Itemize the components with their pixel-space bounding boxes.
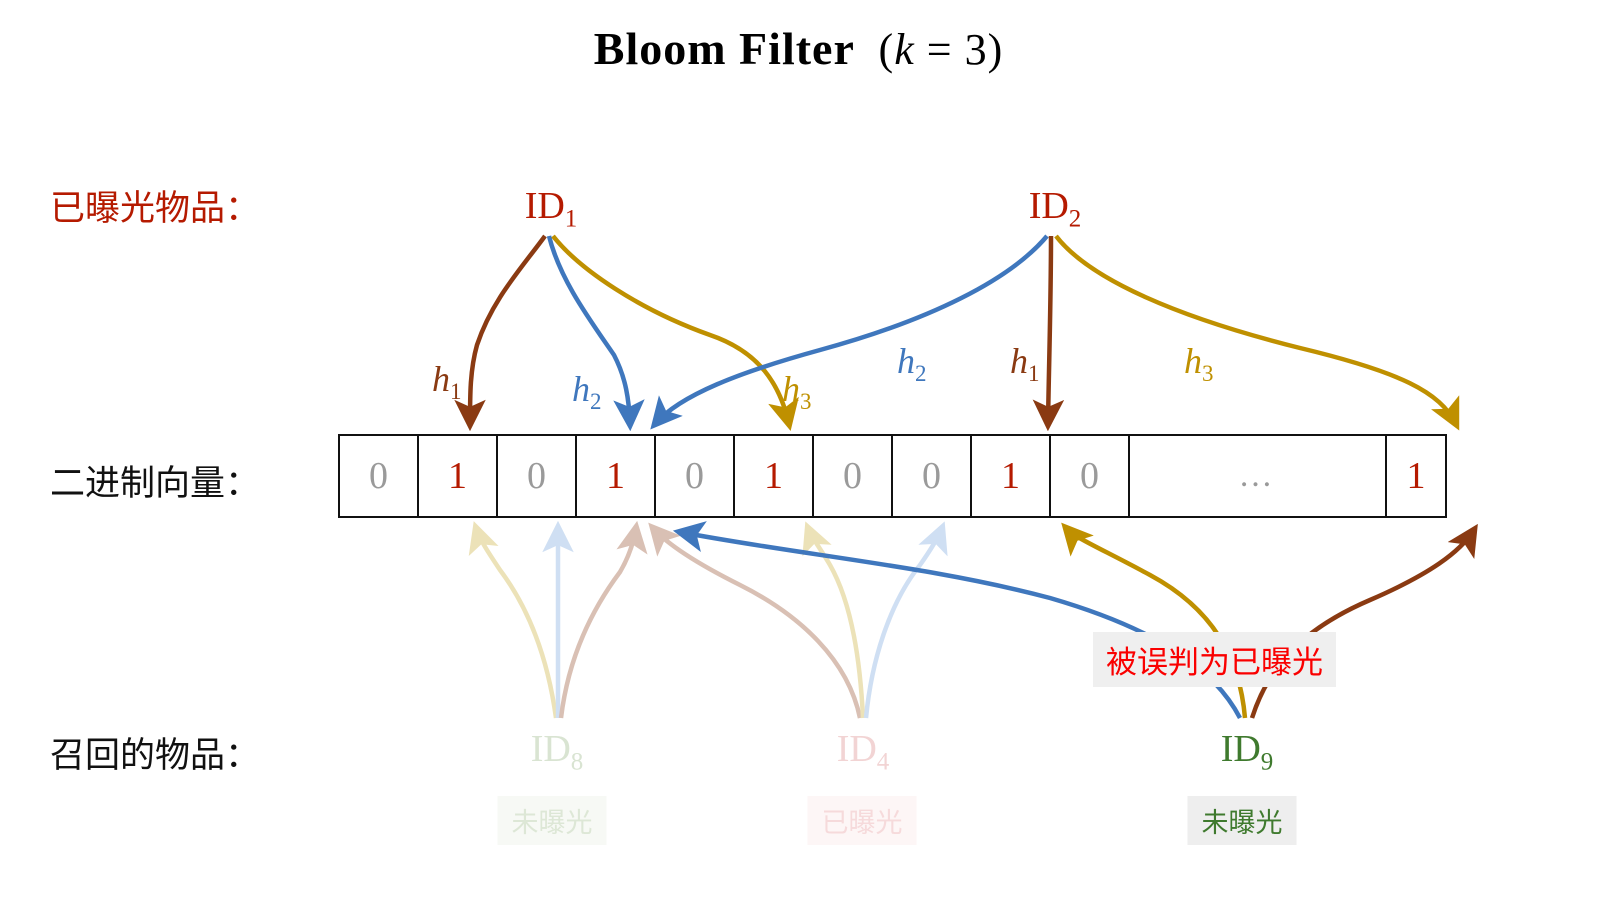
- exposed-item-id1: ID1: [525, 184, 578, 234]
- recalled-item-id9: ID9: [1221, 727, 1274, 777]
- arrow-id9-h3: [1252, 530, 1474, 718]
- status-badge-id4: 已曝光: [808, 796, 917, 845]
- hash-label-id2-h1: h1: [1010, 340, 1040, 387]
- diagram-canvas: Bloom Filter (k = 3) 已曝光物品： 二进制向量： 召回的物品…: [0, 0, 1597, 897]
- recalled-item-id8: ID8: [531, 727, 584, 777]
- hash-label-id1-h3: h3: [782, 368, 812, 415]
- arrow-id9-h2: [680, 532, 1240, 718]
- hash-arrow-layer: [0, 0, 1597, 897]
- false-positive-annotation: 被误判为已曝光: [1093, 632, 1336, 687]
- status-badge-id9: 未曝光: [1188, 796, 1297, 845]
- recalled-item-id4: ID4: [837, 727, 890, 777]
- arrow-id8-h3: [561, 528, 636, 718]
- hash-label-id2-h2: h2: [897, 340, 927, 387]
- hash-label-id1-h1: h1: [432, 358, 462, 405]
- arrow-id2-h3: [1056, 236, 1456, 424]
- arrow-id4-h3: [866, 528, 942, 718]
- arrow-id8-h1: [476, 528, 556, 718]
- hash-label-id2-h3: h3: [1184, 340, 1214, 387]
- arrow-id1-h1: [470, 236, 545, 424]
- hash-label-id1-h2: h2: [572, 368, 602, 415]
- arrow-id2-h2: [655, 236, 1047, 424]
- status-badge-id8: 未曝光: [498, 796, 607, 845]
- exposed-item-id2: ID2: [1029, 184, 1082, 234]
- arrow-id2-h1: [1048, 236, 1051, 424]
